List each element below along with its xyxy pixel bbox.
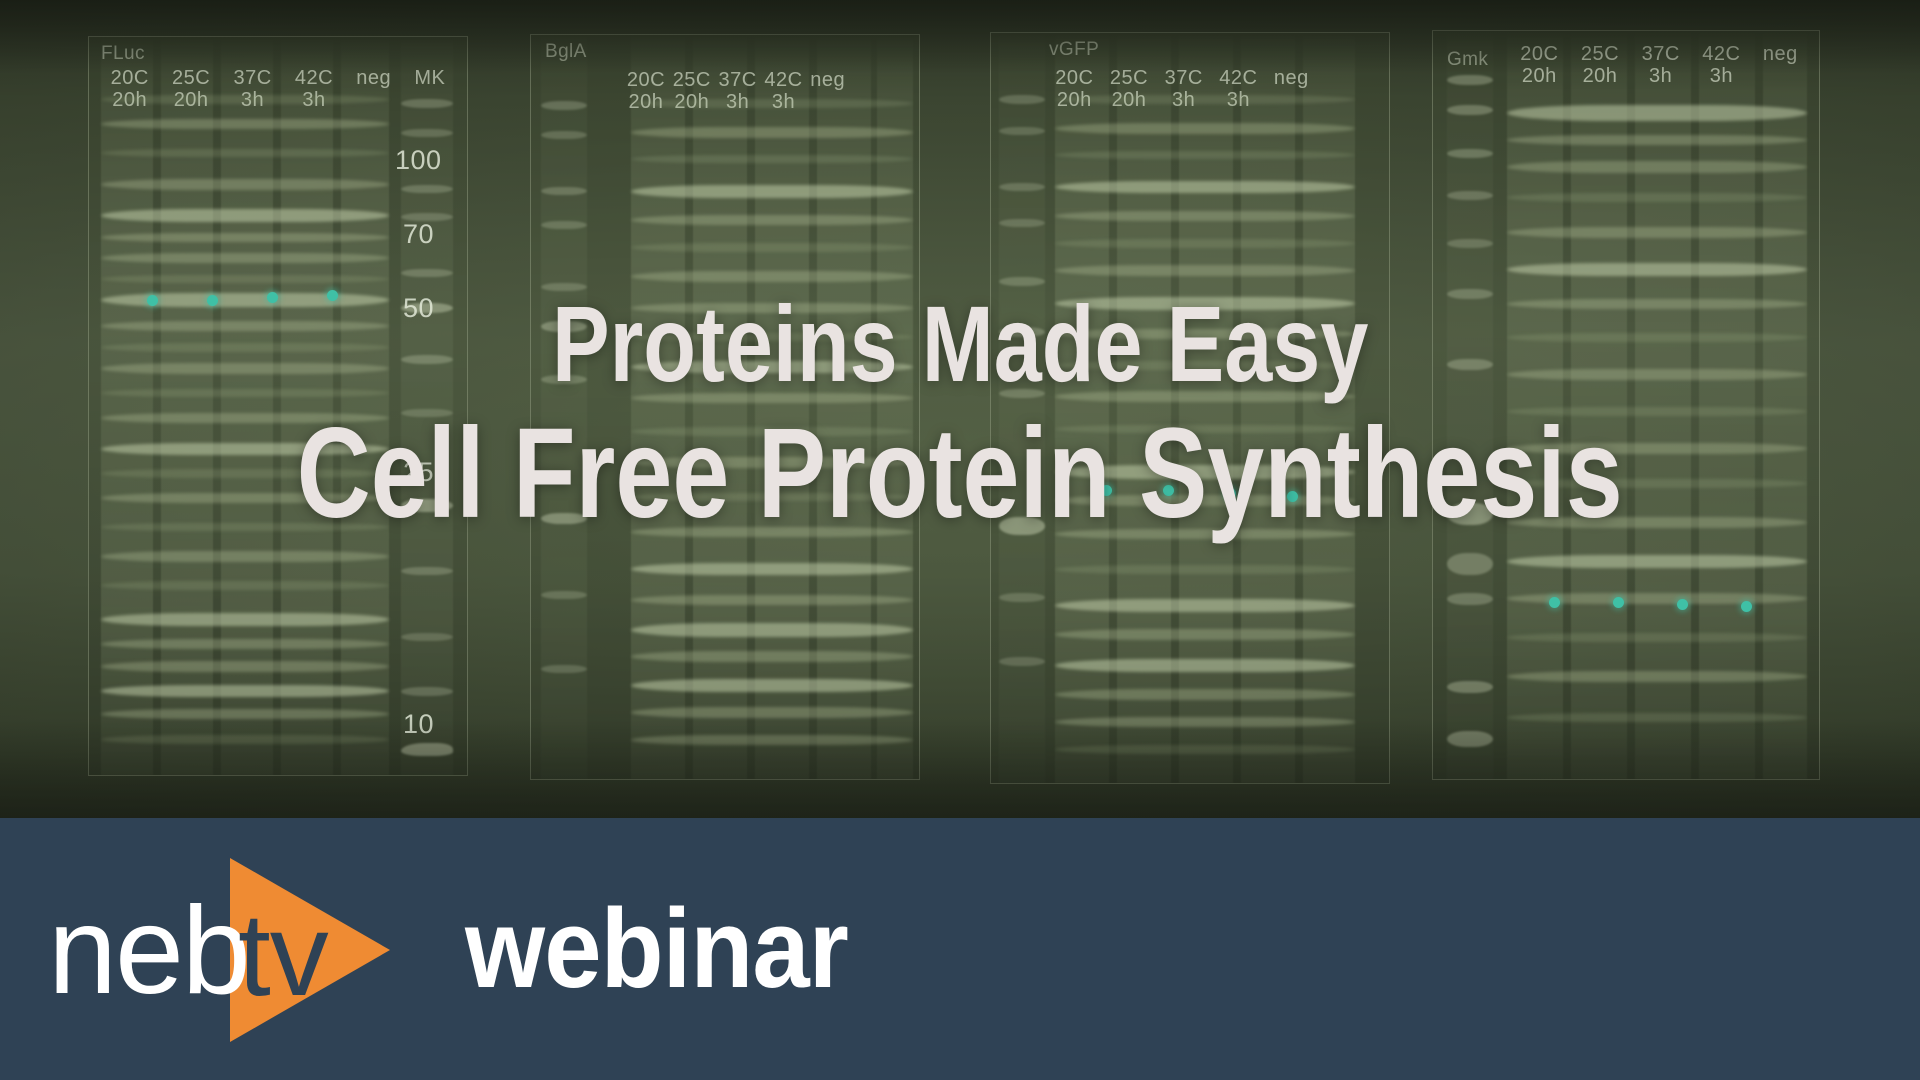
nebtv-logo: neb tv <box>48 856 393 1042</box>
gel-marker-dot <box>267 292 278 303</box>
logo-wordmark-tv: tv <box>238 900 328 1010</box>
gel-marker-dot <box>1677 599 1688 610</box>
footer-bar: neb tv webinar <box>0 818 1920 1080</box>
gel-photograph-background: FLuc 20C 20h 25C 20h 37C 3h 42C 3h neg M… <box>0 0 1920 818</box>
ladder-band-stack <box>1447 31 1493 779</box>
gel-panel-fluc: FLuc 20C 20h 25C 20h 37C 3h 42C 3h neg M… <box>88 36 468 776</box>
gel-band-stack <box>631 35 913 779</box>
gel-marker-dot <box>1101 485 1112 496</box>
gel-marker-dot <box>207 295 218 306</box>
gel-marker-dot <box>1613 597 1624 608</box>
ladder-band-stack <box>541 35 587 779</box>
gel-band-stack <box>1507 31 1807 779</box>
gel-marker-dot <box>1163 485 1174 496</box>
gel-marker-dot <box>1549 597 1560 608</box>
ladder-band-stack <box>401 37 453 775</box>
ladder-band-stack <box>999 33 1045 783</box>
gel-band-stack <box>1055 33 1355 783</box>
gel-panel-bgla: BglA 20C 20h 25C 20h 37C 3h 42C 3h neg <box>530 34 920 780</box>
logo-wordmark-neb: neb <box>48 894 249 1008</box>
footer-label-webinar: webinar <box>465 893 848 1005</box>
gel-marker-dot <box>1225 488 1236 499</box>
gel-marker-dot <box>1741 601 1752 612</box>
gel-band-stack <box>101 37 389 775</box>
gel-panel-vgfp: vGFP 20C 20h 25C 20h 37C 3h 42C 3h neg <box>990 32 1390 784</box>
gel-panel-gmk: Gmk 20C 20h 25C 20h 37C 3h 42C 3h neg <box>1432 30 1820 780</box>
gel-marker-dot <box>327 290 338 301</box>
gel-marker-dot <box>147 295 158 306</box>
slide-canvas: FLuc 20C 20h 25C 20h 37C 3h 42C 3h neg M… <box>0 0 1920 1080</box>
gel-marker-dot <box>1287 491 1298 502</box>
